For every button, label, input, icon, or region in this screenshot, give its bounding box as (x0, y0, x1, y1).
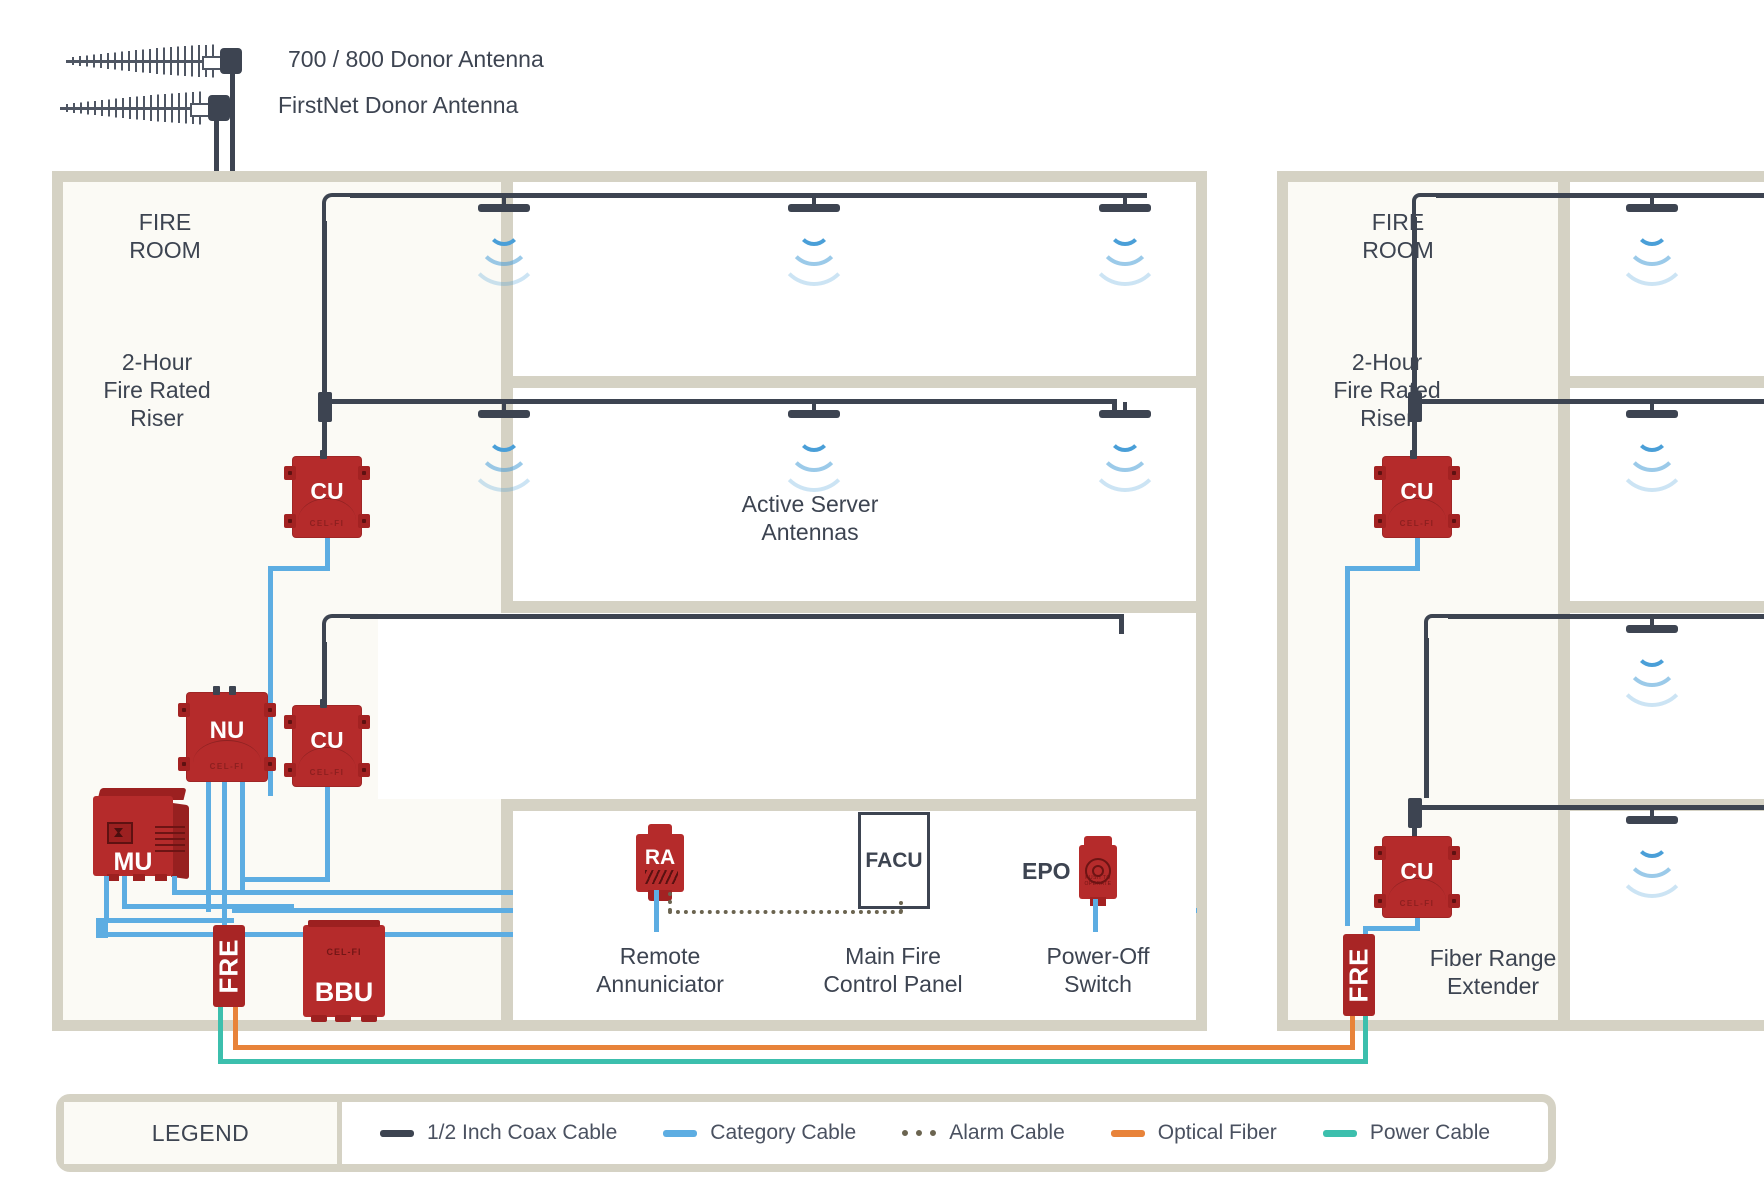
remote-annunciator-label: Remote Annuniciator (570, 942, 750, 998)
device-brand: CEL-FI (186, 762, 268, 771)
power-left-down (218, 1007, 223, 1063)
right-fire-room-label: FIRE ROOM (1318, 208, 1478, 264)
coax-left-floor1-horizontal (350, 614, 1123, 619)
coax-left-floor3-horizontal (350, 193, 1147, 198)
legend-label: Category Cable (710, 1121, 856, 1145)
cat-mu-out-1 (104, 876, 109, 922)
coax-right-floor1-vertical (1424, 638, 1429, 798)
legend-item-power: Power Cable (1323, 1121, 1490, 1145)
power-run-horizontal (218, 1059, 1368, 1064)
device-label: CU (292, 478, 362, 505)
device-brand: CEL-FI (1382, 899, 1452, 908)
server-antenna-l2-b (782, 402, 846, 460)
epo-top-cap (1084, 836, 1113, 847)
mount-tab (264, 703, 276, 717)
alarm-cable-facu-vertical (899, 901, 903, 913)
legend-title: LEGEND (64, 1102, 342, 1164)
device-brand: CEL-FI (292, 519, 362, 528)
coax-junction-right-lower (1408, 798, 1422, 828)
epo-label: EPO (1022, 857, 1071, 885)
cat-cu-lower-bus (245, 877, 330, 882)
epo-face-text: PUSH TO OPERATE (1079, 875, 1117, 887)
server-antenna-l3-a (472, 196, 536, 254)
legend-label: Power Cable (1370, 1121, 1490, 1145)
legend-label: 1/2 Inch Coax Cable (427, 1121, 617, 1145)
cat-cu-right-upper-down (1415, 538, 1420, 568)
ra-top-cap (648, 824, 673, 836)
cat-nu-out-3 (240, 782, 245, 892)
cat-cu-right-upper-left (1345, 566, 1420, 571)
alarm-cable-ra-facu (668, 910, 903, 914)
legend-swatch-category-icon (663, 1130, 697, 1137)
device-label: FRE (1344, 948, 1375, 1003)
device-label: FACU (861, 849, 927, 873)
fiber-range-extender-label: Fiber Range Extender (1398, 944, 1588, 1000)
donor-antenna-firstnet-label: FirstNet Donor Antenna (278, 91, 518, 119)
coax-connector (320, 450, 327, 459)
legend-item-coax: 1/2 Inch Coax Cable (380, 1121, 617, 1145)
device-mu-left[interactable]: MU (93, 786, 193, 884)
ra-grill (645, 870, 679, 884)
mu-display (107, 822, 133, 844)
cat-cu-right-upper-vertical (1345, 566, 1350, 926)
server-antenna-l2-c (1093, 402, 1157, 460)
coax-right-floor2-horizontal (1420, 399, 1764, 404)
server-antenna-r0-a (1620, 808, 1684, 866)
coax-right-floor3-horizontal (1436, 193, 1764, 198)
alarm-cable-ra-vertical (668, 892, 672, 912)
device-cu-right-upper[interactable]: CU CEL-FI (1382, 456, 1452, 538)
coax-left-floor1-elbow (322, 614, 356, 648)
legend-label: Optical Fiber (1158, 1121, 1277, 1145)
mu-side-panel (171, 803, 189, 880)
left-riser-label: 2-Hour Fire Rated Riser (62, 348, 252, 432)
coax-connector (229, 686, 236, 695)
device-label: FRE (214, 939, 245, 994)
server-antenna-l3-c (1093, 196, 1157, 254)
coax-left-floor1-vertical (322, 642, 327, 700)
device-label: NU (186, 717, 268, 745)
donor-antenna-700-800-label: 700 / 800 Donor Antenna (288, 45, 544, 73)
coax-right-floor1-horizontal (1448, 614, 1764, 619)
mount-tab (178, 703, 190, 717)
coax-left-floor2-horizontal (330, 399, 1117, 404)
server-antenna-r3-a (1620, 196, 1684, 254)
legend-item-category: Category Cable (663, 1121, 856, 1145)
device-bbu-left[interactable]: CEL-FI BBU (303, 925, 385, 1017)
legend-item-fiber: Optical Fiber (1111, 1121, 1277, 1145)
device-facu[interactable]: FACU (858, 812, 930, 909)
cat-epo-down (1093, 899, 1098, 932)
device-fre-left[interactable]: FRE (213, 925, 245, 1007)
active-server-antennas-label: Active Server Antennas (690, 490, 930, 546)
right-riser-label: 2-Hour Fire Rated Riser (1292, 348, 1482, 432)
device-brand: CEL-FI (292, 768, 362, 777)
device-label: CU (1382, 858, 1452, 885)
device-brand: CEL-FI (1382, 519, 1452, 528)
cat-ra-down (654, 890, 659, 932)
cat-cu-right-lower-left (1363, 926, 1420, 931)
left-floor-1 (378, 613, 1196, 799)
server-antenna-l3-b (782, 196, 846, 254)
device-label: RA (636, 846, 684, 870)
device-epo[interactable]: PUSH TO OPERATE (1079, 845, 1117, 899)
device-label: MU (93, 848, 173, 877)
device-label: BBU (303, 977, 385, 1008)
legend-panel: LEGEND 1/2 Inch Coax Cable Category Cabl… (56, 1094, 1556, 1172)
device-cu-right-lower[interactable]: CU CEL-FI (1382, 836, 1452, 918)
donor-antenna-firstnet-icon (60, 91, 226, 125)
fiber-run-horizontal (233, 1045, 1355, 1050)
coax-junction-left-upper (318, 392, 332, 422)
cat-cu-upper-left (268, 566, 330, 571)
coax-connector (320, 699, 327, 708)
device-label: CU (292, 727, 362, 754)
left-fire-room-label: FIRE ROOM (85, 208, 245, 264)
device-nu-left[interactable]: NU CEL-FI (186, 692, 268, 782)
legend-items: 1/2 Inch Coax Cable Category Cable Alarm… (342, 1121, 1548, 1145)
diagram-canvas: 700 / 800 Donor Antenna FirstNet Donor A… (0, 0, 1764, 1200)
coax-junction-right-upper (1408, 392, 1422, 422)
device-cu-left-lower[interactable]: CU CEL-FI (292, 705, 362, 787)
coax-right-floor3-vertical (1412, 217, 1417, 398)
device-label: CU (1382, 478, 1452, 505)
coax-left-floor3-elbow (322, 193, 356, 227)
coax-connector (1410, 450, 1417, 459)
power-off-switch-label: Power-Off Switch (1018, 942, 1178, 998)
coax-left-floor1-end-down (1119, 614, 1124, 634)
power-right-up (1363, 1016, 1368, 1064)
device-cu-left-upper[interactable]: CU CEL-FI (292, 456, 362, 538)
cat-bus-6 (96, 918, 108, 938)
legend-item-alarm: Alarm Cable (902, 1121, 1065, 1145)
bbu-top-cap (308, 920, 380, 927)
cat-bus-1 (104, 918, 234, 923)
device-remote-annunciator[interactable]: RA (636, 834, 684, 892)
cat-cu-lower-down (325, 787, 330, 881)
legend-swatch-alarm-icon (902, 1130, 936, 1136)
coax-connector (213, 686, 220, 695)
legend-swatch-power-icon (1323, 1130, 1357, 1137)
legend-swatch-fiber-icon (1111, 1130, 1145, 1137)
server-antenna-l2-a (472, 402, 536, 460)
coax-left-floor3-vertical (322, 221, 327, 398)
main-fire-control-panel-label: Main Fire Control Panel (800, 942, 986, 998)
device-fre-right[interactable]: FRE (1343, 934, 1375, 1016)
legend-label: Alarm Cable (949, 1121, 1065, 1145)
legend-swatch-coax-icon (380, 1130, 414, 1137)
donor-antenna-700-800-icon (66, 44, 238, 78)
fiber-right-up (1350, 1016, 1355, 1050)
server-antenna-r2-a (1620, 402, 1684, 460)
fiber-left-down (233, 1007, 238, 1049)
server-antenna-r1-a (1620, 617, 1684, 675)
coax-right-ground-horizontal (1420, 805, 1764, 810)
device-brand: CEL-FI (303, 947, 385, 957)
